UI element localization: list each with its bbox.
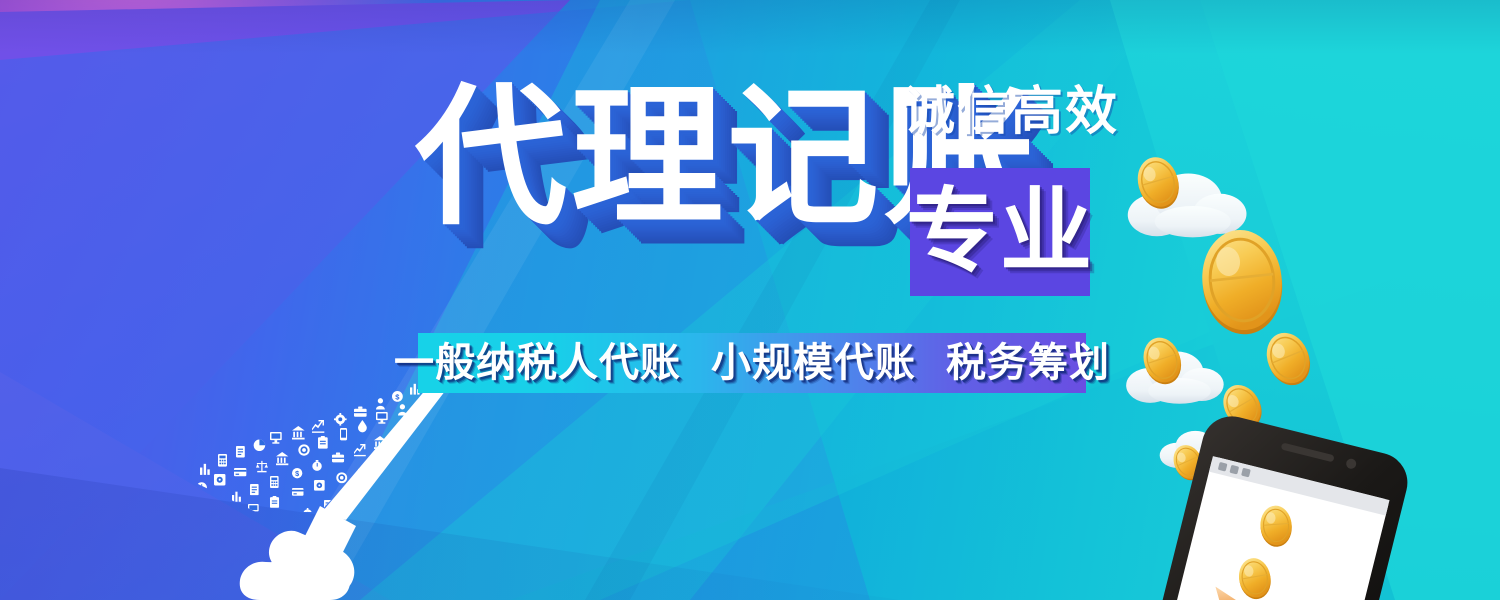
megaphone-hand <box>240 506 356 600</box>
tagline-integrity-efficiency: 诚信高效 <box>903 86 1119 138</box>
service-item-small-scale: 小规模代账 <box>711 343 916 383</box>
megaphone-illustration: $ <box>170 276 500 600</box>
service-item-tax-planning: 税务筹划 <box>946 343 1110 383</box>
gold-coin <box>1259 326 1317 391</box>
services-bar: 一般纳税人代账 小规模代账 税务筹划 <box>418 333 1086 393</box>
professional-badge: 专业 <box>910 168 1090 296</box>
headline-block: 代理记账 诚信高效 专业 <box>415 82 1115 322</box>
gold-coin <box>1197 226 1287 338</box>
professional-badge-label: 专业 <box>906 186 1094 278</box>
smartphone <box>1133 410 1414 600</box>
promotional-banner: $ <box>0 0 1500 600</box>
service-item-general-taxpayer: 一般纳税人代账 <box>394 343 681 383</box>
money-illustration <box>1090 110 1500 600</box>
